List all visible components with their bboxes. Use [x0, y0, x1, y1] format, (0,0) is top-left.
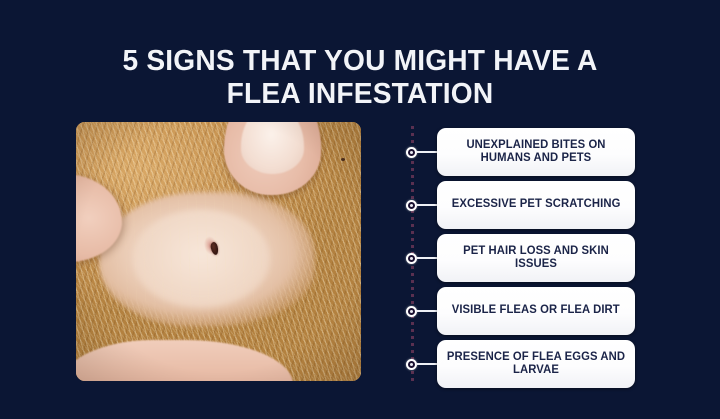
- list-item[interactable]: PRESENCE OF FLEA EGGS AND LARVAE: [400, 340, 640, 388]
- sign-card-5[interactable]: PRESENCE OF FLEA EGGS AND LARVAE: [437, 340, 635, 388]
- page-title-line-2: FLEA INFESTATION: [11, 78, 709, 111]
- connector-line: [416, 257, 438, 259]
- connector-line: [416, 310, 438, 312]
- sign-label: UNEXPLAINED BITES ON HUMANS AND PETS: [447, 139, 625, 166]
- page-title: 5 SIGNS THAT YOU MIGHT HAVE A FLEA INFES…: [11, 45, 709, 111]
- sign-card-3[interactable]: PET HAIR LOSS AND SKIN ISSUES: [437, 234, 635, 282]
- photo-vignette: [76, 122, 361, 381]
- sign-label: VISIBLE FLEAS OR FLEA DIRT: [452, 304, 620, 318]
- sign-card-1[interactable]: UNEXPLAINED BITES ON HUMANS AND PETS: [437, 128, 635, 176]
- list-item[interactable]: PET HAIR LOSS AND SKIN ISSUES: [400, 234, 640, 282]
- list-item[interactable]: VISIBLE FLEAS OR FLEA DIRT: [400, 287, 640, 335]
- list-item[interactable]: EXCESSIVE PET SCRATCHING: [400, 181, 640, 229]
- sign-card-2[interactable]: EXCESSIVE PET SCRATCHING: [437, 181, 635, 229]
- sign-card-4[interactable]: VISIBLE FLEAS OR FLEA DIRT: [437, 287, 635, 335]
- flea-photo: [76, 122, 361, 381]
- sign-label: PRESENCE OF FLEA EGGS AND LARVAE: [447, 351, 625, 378]
- sign-label: PET HAIR LOSS AND SKIN ISSUES: [447, 245, 625, 272]
- connector-line: [416, 151, 438, 153]
- connector-line: [416, 204, 438, 206]
- sign-label: EXCESSIVE PET SCRATCHING: [452, 198, 621, 212]
- list-item[interactable]: UNEXPLAINED BITES ON HUMANS AND PETS: [400, 128, 640, 176]
- connector-line: [416, 363, 438, 365]
- infographic-page: 5 SIGNS THAT YOU MIGHT HAVE A FLEA INFES…: [0, 0, 720, 419]
- signs-list: UNEXPLAINED BITES ON HUMANS AND PETS EXC…: [400, 124, 640, 384]
- page-title-line-1: 5 SIGNS THAT YOU MIGHT HAVE A: [11, 45, 709, 78]
